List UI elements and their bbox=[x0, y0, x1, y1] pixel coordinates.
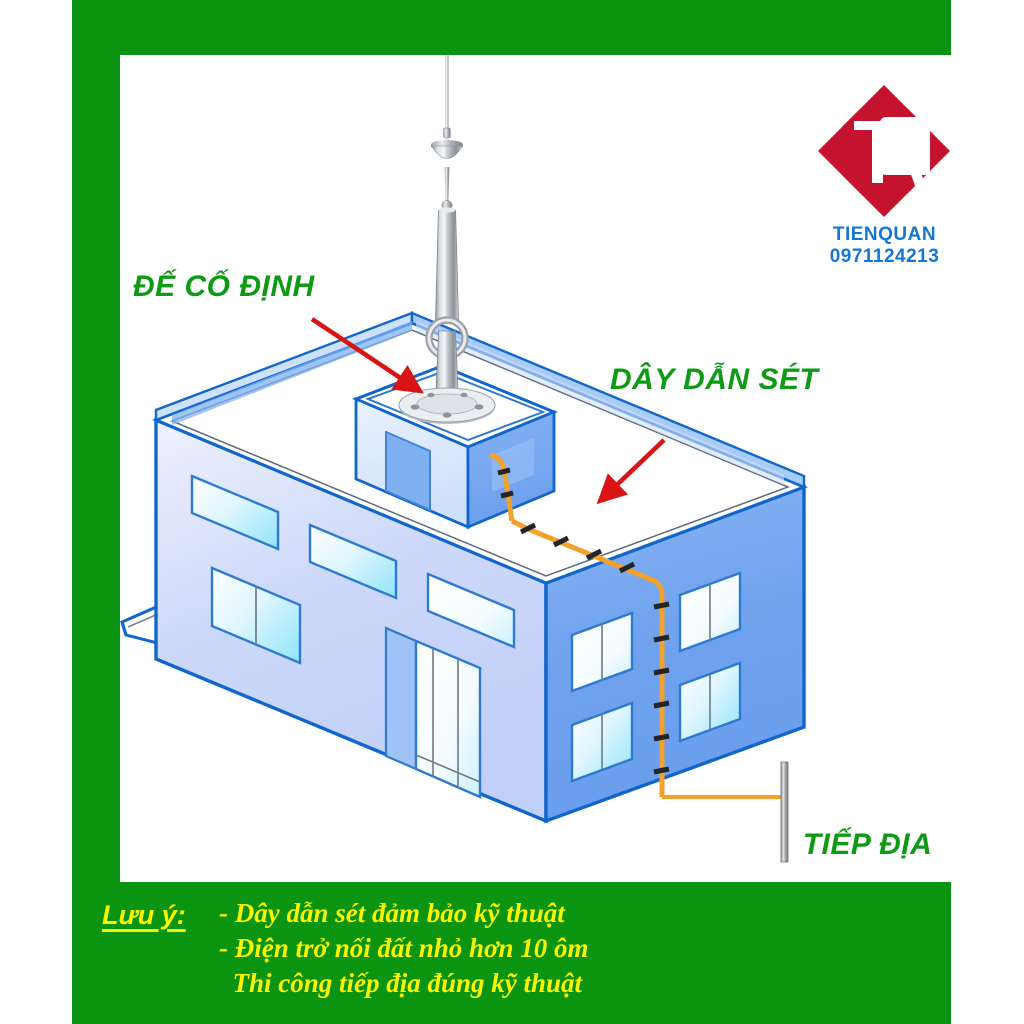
company-logo: TIENQUAN 0971124213 bbox=[792, 81, 951, 281]
poster-root: TIENQUAN 0971124213 ĐẾ CỐ ĐỊNH DÂY DẪN S… bbox=[0, 0, 1024, 1024]
callout-grounding: TIẾP ĐỊA AN TOÀN bbox=[780, 760, 951, 882]
right-white-margin bbox=[951, 0, 1024, 1024]
note-lines: - Dây dẫn sét đảm bảo kỹ thuật - Điện tr… bbox=[219, 896, 589, 1001]
note-label: Lưu ý: bbox=[102, 900, 186, 931]
logo-brand-name: TIENQUAN bbox=[792, 223, 951, 246]
callout-grounding-line1: TIẾP ĐỊA bbox=[780, 828, 951, 862]
tq-diamond-logo-icon bbox=[814, 81, 951, 221]
callout-conductor-wire: DÂY DẪN SÉT bbox=[610, 363, 818, 397]
callout-base-plate: ĐẾ CỐ ĐỊNH bbox=[133, 270, 315, 304]
note-band: Lưu ý: - Dây dẫn sét đảm bảo kỹ thuật - … bbox=[72, 886, 951, 1024]
diagram-canvas: TIENQUAN 0971124213 ĐẾ CỐ ĐỊNH DÂY DẪN S… bbox=[120, 55, 951, 882]
fixed-base-plate bbox=[399, 388, 495, 424]
logo-phone-number: 0971124213 bbox=[792, 246, 951, 268]
